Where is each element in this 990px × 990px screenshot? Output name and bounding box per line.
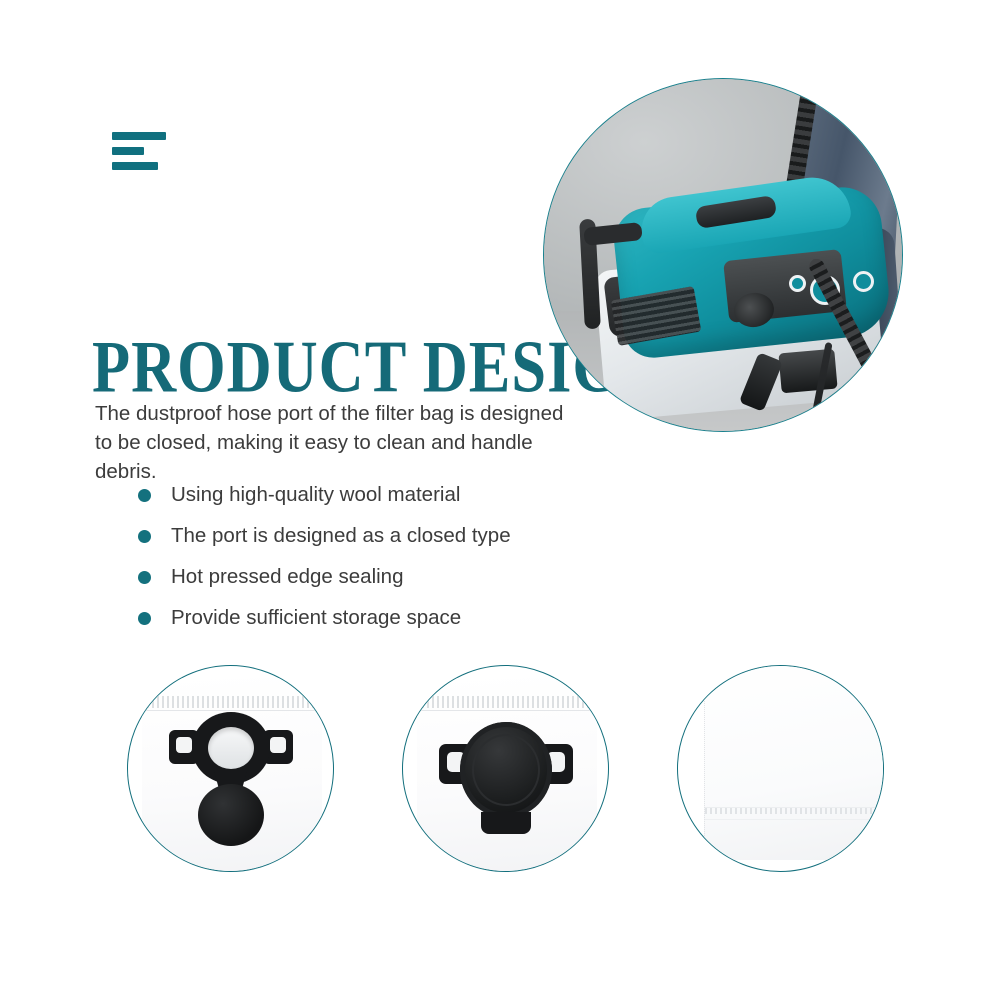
control-knob-small (789, 275, 806, 292)
feature-label: Hot pressed edge sealing (171, 565, 404, 588)
cap-bottom-tab (481, 812, 531, 834)
bag-top-seam-line (142, 710, 322, 711)
bullet-dot-icon (138, 612, 151, 625)
feature-label: Using high-quality wool material (171, 483, 460, 506)
port-cap-closed (460, 722, 552, 818)
feature-list: Using high-quality wool material The por… (138, 484, 568, 648)
bullet-dot-icon (138, 530, 151, 543)
bullet-dot-icon (138, 489, 151, 502)
hose-port-closed (439, 718, 573, 826)
bag-top-seam-line (417, 710, 597, 711)
gallery-image-open-port (127, 665, 334, 872)
bullet-dot-icon (138, 571, 151, 584)
hot-pressed-edge-line (705, 819, 884, 820)
logo-bar-middle (112, 147, 144, 155)
logo-bar-bottom (112, 162, 158, 170)
wool-fabric-swatch (704, 665, 884, 860)
bag-top-seam (142, 696, 322, 708)
port-cap-open (198, 784, 264, 846)
gallery-image-closed-port (402, 665, 609, 872)
control-knob-secondary (853, 271, 874, 292)
feature-label: Provide sufficient storage space (171, 606, 461, 629)
three-bars-logo-icon (112, 132, 174, 178)
hot-pressed-edge-seam (705, 807, 884, 814)
hose-port-collar (169, 712, 293, 790)
logo-bar-top (112, 132, 166, 140)
hero-product-photo (543, 78, 903, 432)
list-item: Hot pressed edge sealing (138, 566, 568, 589)
intro-paragraph: The dustproof hose port of the filter ba… (95, 399, 565, 486)
list-item: The port is designed as a closed type (138, 525, 568, 548)
list-item: Provide sufficient storage space (138, 607, 568, 630)
gallery-image-fabric (677, 665, 884, 872)
product-design-poster: PRODUCT DESIGN The dustproof hose port o… (0, 0, 990, 990)
gallery (0, 665, 990, 880)
feature-label: The port is designed as a closed type (171, 524, 511, 547)
list-item: Using high-quality wool material (138, 484, 568, 507)
bag-top-seam (417, 696, 597, 708)
